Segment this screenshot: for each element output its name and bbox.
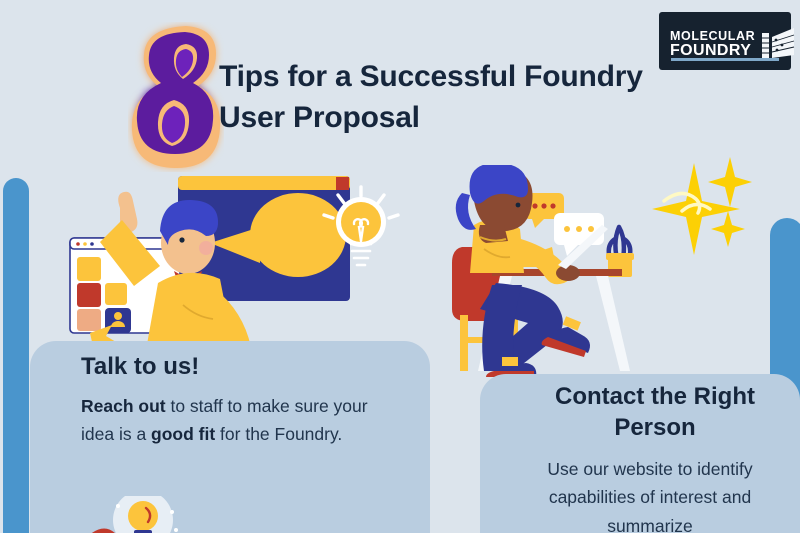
card-heading-contact-right-person: Contact the Right Person [520, 382, 790, 443]
sparkle-stars-icon [652, 155, 752, 260]
lightbulb-idea-icon [318, 182, 404, 278]
left-accent-rail [3, 178, 29, 533]
lightbulb-bottom-icon [88, 496, 238, 533]
logo-line-1: MOLECULAR [670, 30, 755, 43]
molecular-foundry-logo: MOLECULAR FOUNDRY [659, 12, 791, 70]
page-title: Tips for a Successful Foundry User Propo… [219, 56, 649, 139]
card-body-contact-right-person: Use our website to identify capabilities… [505, 455, 795, 533]
numeral-eight-graphic [128, 22, 224, 172]
logo-line-2: FOUNDRY [670, 43, 755, 59]
card-body-talk-to-us: Reach out to staff to make sure your ide… [81, 392, 381, 449]
emphasis-good-fit: good fit [151, 424, 215, 444]
card-heading-talk-to-us: Talk to us! [81, 352, 199, 383]
emphasis-reach-out: Reach out [81, 396, 166, 416]
body-text-segment-2: for the Foundry. [215, 424, 342, 444]
infographic-root: Tips for a Successful Foundry User Propo… [0, 0, 800, 533]
logo-underline [671, 58, 779, 61]
